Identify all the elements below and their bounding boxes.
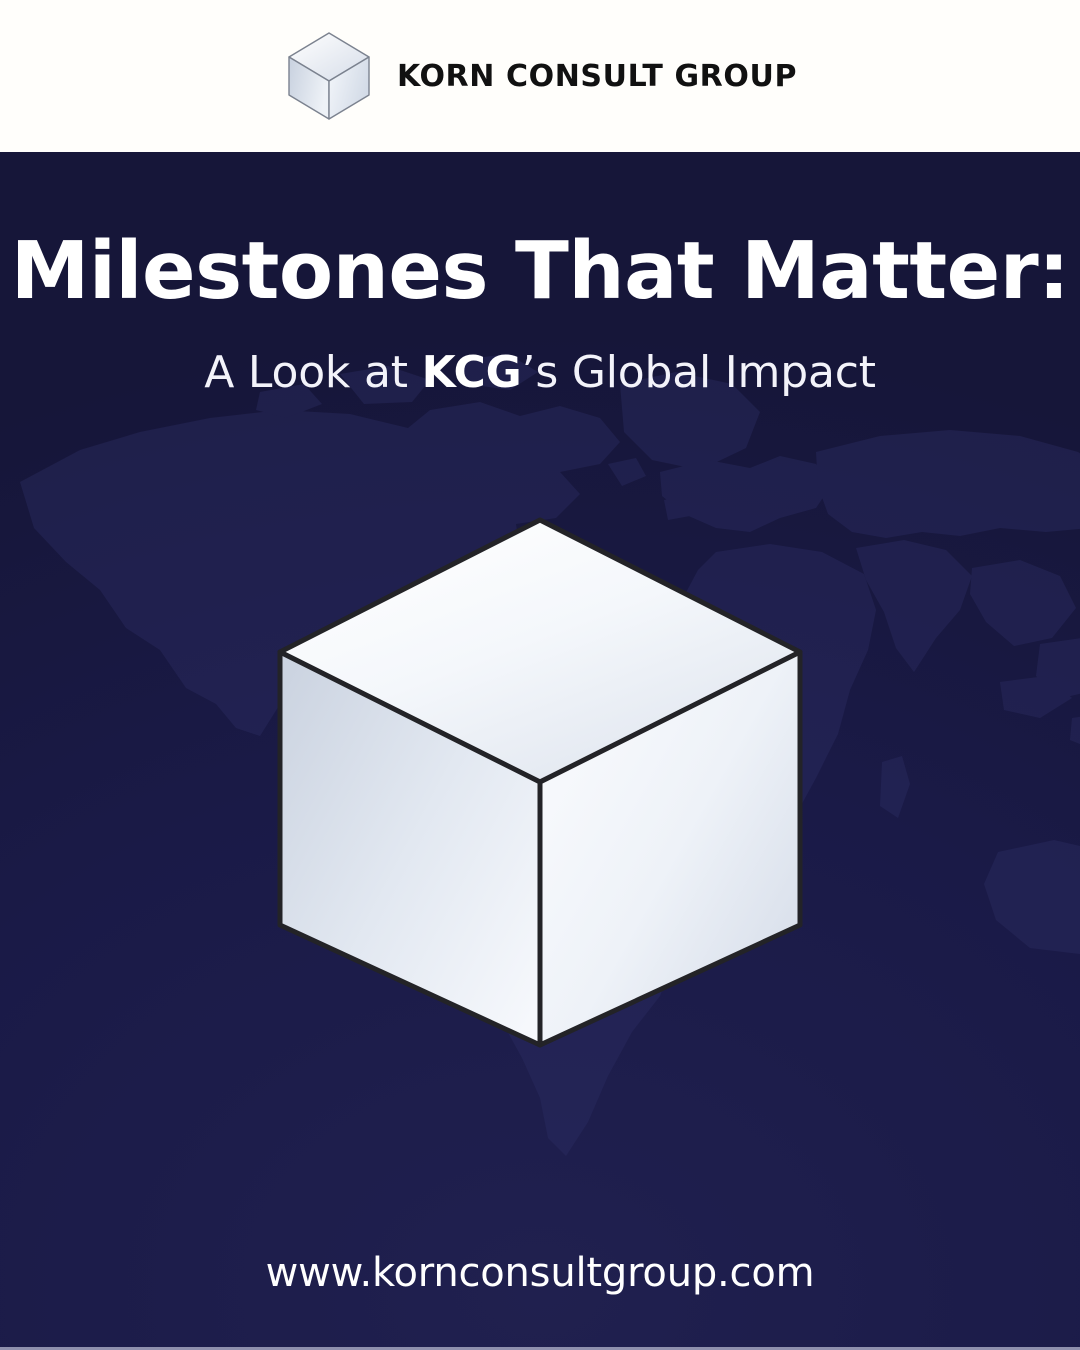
isometric-cube-graphic bbox=[260, 497, 820, 1057]
poster-canvas: KORN CONSULT GROUP bbox=[0, 0, 1080, 1350]
page-subtitle: A Look at KCG’s Global Impact bbox=[0, 312, 1080, 399]
header-band: KORN CONSULT GROUP bbox=[0, 0, 1080, 152]
brand-logo-lockup[interactable]: KORN CONSULT GROUP bbox=[283, 27, 797, 125]
footer-website-url[interactable]: www.kornconsultgroup.com bbox=[0, 1250, 1080, 1296]
title-block: Milestones That Matter: A Look at KCG’s … bbox=[0, 152, 1080, 399]
subtitle-prefix: A Look at bbox=[204, 347, 421, 398]
brand-wordmark: KORN CONSULT GROUP bbox=[397, 59, 797, 94]
cube-icon bbox=[283, 27, 375, 125]
subtitle-accent: KCG bbox=[422, 347, 522, 398]
subtitle-suffix: ’s Global Impact bbox=[522, 347, 876, 398]
page-title: Milestones That Matter: bbox=[0, 230, 1080, 312]
poster-stage: Milestones That Matter: A Look at KCG’s … bbox=[0, 152, 1080, 1350]
